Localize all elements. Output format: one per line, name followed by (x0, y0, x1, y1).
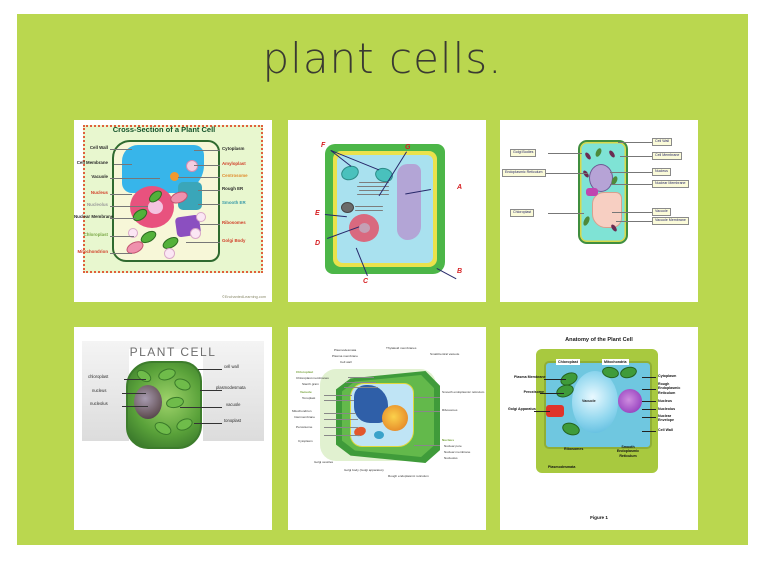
leader-line (110, 218, 136, 219)
callout-nucleus[interactable]: Nucleus (652, 168, 671, 176)
leader-line (534, 411, 550, 412)
leader-line (437, 268, 457, 279)
figure-photographic-plant-cell: PLANT CELL chloroplast nucleus nucleol (74, 327, 272, 530)
label-nucleolus: nucleolus (90, 402, 108, 406)
label-cytoplasm: Cytoplasm (298, 440, 313, 444)
leader-line (324, 419, 358, 420)
leader-line (198, 190, 220, 191)
leader-line (194, 150, 220, 151)
label-mitochondrion: Mitochondrion (292, 410, 311, 414)
image-card-anatomy-plant-cell[interactable]: Anatomy of the Plant Cell (500, 327, 698, 530)
leader-line (618, 142, 652, 143)
leader-line (642, 409, 656, 410)
label-nucleolus: Nucleolus (658, 407, 675, 411)
leader-line (548, 153, 582, 154)
label-nucleus: nucleus (92, 389, 106, 393)
label-tonoplast: tonoplast (224, 419, 241, 423)
ribosome-shape (190, 228, 201, 239)
nucleus-shape (134, 385, 162, 419)
leader-line (348, 377, 374, 378)
image-card-photographic-cell[interactable]: PLANT CELL chloroplast nucleus nucleol (74, 327, 272, 530)
cell-illustration: F G A E D C B (301, 126, 473, 296)
callout-cell-membrane[interactable]: Cell Membrane (652, 152, 682, 160)
label-nuclear-pore: Nuclear pore (444, 445, 462, 449)
label-d: D (315, 240, 320, 247)
label-intermembrane: Intermembrane (294, 416, 315, 420)
label-nuclear-membrane: Nuclear membrane (444, 451, 470, 455)
label-ribosomes: Ribosomes (564, 447, 583, 451)
label-chloroplast: chloroplast (88, 375, 108, 379)
label-plasmodesmata: Plasmodesmata (548, 465, 575, 469)
callout-nuclear-membrane[interactable]: Nuclear Membrane (652, 180, 689, 188)
label-nucleolus: Nucleolus (76, 203, 108, 207)
nucleus-shape (382, 405, 408, 431)
label-amyloplast: Amyloplast (222, 162, 246, 166)
label-tonoplast: Tonoplast (302, 397, 315, 401)
leader-line (110, 178, 160, 179)
leader-line (180, 407, 222, 408)
leader-line (620, 156, 652, 157)
leader-line (414, 445, 440, 446)
leader-line (110, 236, 134, 237)
label-mitochondrion: Mitochondrion (74, 250, 108, 254)
label-nucleus: Nucleus (76, 191, 108, 195)
leader-line (612, 212, 652, 213)
leader-line (122, 393, 146, 394)
label-nuclear-membrane: Nuclear Membrane (74, 215, 108, 219)
leader-line (110, 253, 132, 254)
label-cell-wall: Cell Wall (76, 146, 108, 150)
label-b: B (457, 268, 462, 275)
figure-anatomy-of-the-plant-cell: Anatomy of the Plant Cell (500, 327, 698, 530)
label-cell-membrane: Cell Membrane (76, 161, 108, 165)
label-vacuole: Vacuole (76, 175, 108, 179)
leader-line (414, 411, 440, 412)
label-e: E (315, 210, 320, 217)
label-smooth-endoplasmic-reticulum: Smooth endoplasmic reticulum (442, 391, 484, 395)
label-chloroplast-membranes: Chloroplast membranes (296, 377, 329, 381)
label-thylakoid-membranes: Thylakoid membranes (386, 347, 416, 351)
callout-endoplasmic-reticulum[interactable]: Endoplasmic Reticulum (502, 169, 546, 177)
figure-title: Cross-Section of a Plant Cell (74, 125, 254, 134)
leader-line (324, 427, 358, 428)
label-smooth-endoplasmic-reticulum: Smooth Endoplasmic Reticulum (610, 445, 646, 458)
label-peroxisome: Peroxisome (296, 426, 312, 430)
ribosome-shape (164, 248, 175, 259)
vacuole-shape (397, 164, 421, 240)
leader-line (186, 242, 220, 243)
leader-line (198, 204, 220, 205)
callout-chloroplast[interactable]: Chloroplast (510, 209, 534, 217)
label-chloroplast: Chloroplast (76, 233, 108, 237)
leader-line (544, 173, 588, 174)
leader-line (414, 397, 440, 398)
label-g: G (405, 144, 410, 151)
leader-line (610, 184, 652, 185)
leader-line (110, 194, 132, 195)
label-vacuole-group: Vacuole (300, 391, 312, 395)
callout-cell-wall[interactable]: Cell Wall (652, 138, 672, 146)
leader-line (114, 164, 132, 165)
leader-line (110, 206, 148, 207)
label-ribosomes: Ribosomes (222, 221, 246, 225)
leader-line (544, 379, 566, 380)
label-chloroplast: Chloroplast (556, 359, 580, 365)
label-plasmodesmata: Plasmodesmata (334, 349, 356, 353)
label-ribosomes: Ribosomes (442, 409, 457, 413)
label-nucleolus: Nucleolus (444, 457, 458, 461)
leader-line (324, 400, 354, 401)
leader-line (124, 379, 146, 380)
page-title: plant cells. (17, 38, 748, 80)
leader-line (324, 395, 352, 396)
mitochondrion-shape (341, 202, 354, 213)
peroxisome-shape (374, 431, 384, 439)
image-card-lettered-cell[interactable]: F G A E D C B (288, 120, 486, 302)
callout-vacuole-membrane[interactable]: Vacuole Membrane (652, 217, 689, 225)
label-golgi-body: Golgi Body (222, 239, 245, 243)
label-plasma-membrane: Plasma membrane (332, 355, 358, 359)
leader-line (198, 369, 222, 370)
label-rough-er: Rough ER (222, 187, 243, 191)
label-c: C (363, 278, 368, 285)
leader-line (194, 165, 220, 166)
leader-line (194, 423, 222, 424)
vacuole-shape (592, 192, 622, 228)
label-starch-grain: Starch grain (302, 383, 319, 387)
leader-line (122, 406, 148, 407)
leader-line (642, 431, 656, 432)
label-golgi-vesicles: Golgi vesicles (314, 461, 333, 465)
label-plasmodesmata: plasmodesmata (216, 386, 246, 390)
leader-line (344, 387, 378, 388)
label-cell-wall: Cell Wall (658, 428, 678, 432)
label-cell-wall: cell wall (224, 365, 239, 369)
label-plasma-membrane: Plasma Membrane (514, 375, 544, 379)
leader-line (642, 401, 656, 402)
label-peroxisome: Peroxisome (510, 390, 544, 394)
label-cytoplasm: Cytoplasm (222, 147, 244, 151)
label-small-central-vacuole: Small/central vacuole (430, 353, 459, 357)
callout-golgi-bodies[interactable]: Golgi Bodies (510, 149, 536, 157)
leader-line (548, 213, 584, 214)
amyloplast-shape (186, 160, 198, 172)
leader-line (610, 172, 652, 173)
label-centrosome: Centrosome (222, 174, 248, 178)
nucleolus-shape (359, 223, 370, 233)
figure-callout-labelled-plant-cell: Golgi Bodies Endoplasmic Reticulum Chlor… (500, 120, 698, 302)
nucleus-shape (618, 389, 642, 413)
slide: plant cells. Cross-Section of a Plant Ce… (17, 14, 748, 545)
image-card-cross-section[interactable]: Cross-Section of a Plant Cell (74, 120, 272, 302)
leader-line (178, 177, 220, 178)
leader-line (616, 221, 652, 222)
label-cell-wall: Cell wall (340, 361, 352, 365)
label-vacuole: Vacuole (582, 399, 596, 403)
figure-lettered-plant-cell-quiz: F G A E D C B (288, 120, 486, 302)
leader-line (324, 413, 356, 414)
leader-line (346, 382, 376, 383)
figure-title: Anatomy of the Plant Cell (500, 337, 698, 343)
label-rough-endoplasmic-reticulum: Rough Endoplasmic Reticulum (658, 382, 692, 395)
label-smooth-er: Smooth ER (222, 201, 246, 205)
figure-caption: Figure 1 (500, 515, 698, 520)
label-nucleus-group: Nucleus (442, 439, 454, 443)
watermark: ©EnchantedLearning.com (222, 295, 266, 299)
label-vacuole: vacuole (226, 403, 240, 407)
leader-line (642, 389, 656, 390)
label-chloroplast-group: Chloroplast (296, 371, 313, 375)
ribosome-shape (196, 212, 206, 222)
label-nuclear-envelope: Nuclear Envelope (658, 414, 688, 423)
label-mitochondria: Mitochondria (602, 359, 629, 365)
label-rough-endoplasmic-reticulum: Rough endoplasmic reticulum (388, 475, 429, 479)
leader-line (642, 417, 656, 418)
figure-detailed-cutaway-plant-cell: Plasmodesmata Plasma membrane Cell wall … (288, 327, 486, 530)
image-card-callout-cell[interactable]: Golgi Bodies Endoplasmic Reticulum Chlor… (500, 120, 698, 302)
leader-line (642, 377, 656, 378)
label-golgi-body: Golgi body (Golgi apparatus) (344, 469, 384, 473)
label-f: F (321, 142, 325, 149)
label-golgi-apparatus: Golgi Apparatus (508, 407, 534, 411)
label-a: A (457, 184, 462, 191)
callout-vacuole[interactable]: Vacuole (652, 208, 671, 216)
image-card-detailed-cutaway[interactable]: Plasmodesmata Plasma membrane Cell wall … (288, 327, 486, 530)
leader-line (200, 224, 220, 225)
leader-line (110, 149, 132, 150)
image-grid: Cross-Section of a Plant Cell (74, 120, 698, 530)
figure-cross-section-of-a-plant-cell: Cross-Section of a Plant Cell (74, 120, 272, 302)
golgi-bodies-shape (586, 188, 598, 196)
figure-title: PLANT CELL (82, 345, 264, 359)
label-nucleus: Nucleus (658, 399, 672, 403)
label-cytoplasm: Cytoplasm (658, 374, 676, 378)
leader-line (324, 435, 360, 436)
